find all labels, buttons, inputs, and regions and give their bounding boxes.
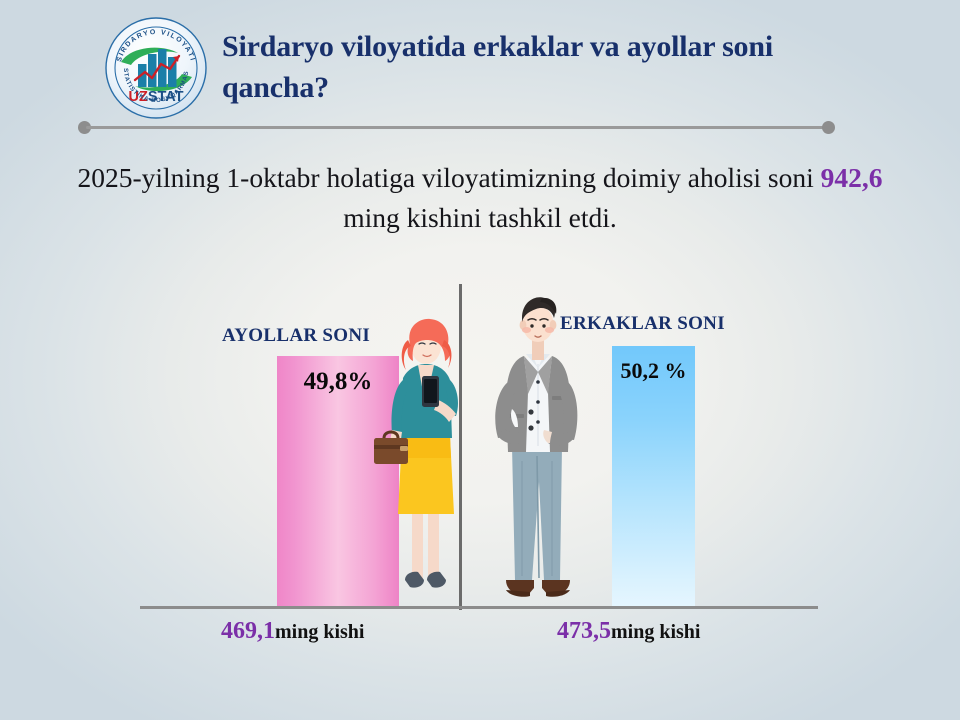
chart-baseline	[140, 606, 818, 609]
woman-illustration	[372, 318, 476, 608]
subtitle-lead: 2025-yilning 1-oktabr holatiga viloyatim…	[77, 162, 820, 193]
value-men-unit: ming kishi	[611, 621, 700, 643]
header-divider	[0, 121, 960, 135]
divider-dot-right	[822, 121, 835, 134]
value-women-number: 469,1	[221, 618, 275, 644]
subtitle-total-value: 942,6	[821, 162, 883, 193]
value-women: 469,1ming kishi	[221, 618, 364, 645]
population-bar-chart: AYOLLAR SONI 49,8%	[0, 270, 960, 690]
uzstat-logo: UZSTAT SIRDARYO VILOYATI STATISTIKA BOSH…	[104, 16, 208, 120]
value-men: 473,5ming kishi	[557, 618, 700, 645]
subtitle-tail: ming kishini tashkil etdi.	[343, 202, 616, 233]
header: UZSTAT SIRDARYO VILOYATI STATISTIKA BOSH…	[0, 0, 960, 130]
infographic-slide: UZSTAT SIRDARYO VILOYATI STATISTIKA BOSH…	[0, 0, 960, 720]
divider-line	[86, 126, 830, 129]
bar-men: 50,2 %	[612, 346, 695, 608]
page-title: Sirdaryo viloyatida erkaklar va ayollar …	[222, 26, 882, 109]
bar-men-percent: 50,2 %	[612, 358, 695, 384]
value-men-number: 473,5	[557, 618, 611, 644]
subtitle: 2025-yilning 1-oktabr holatiga viloyatim…	[70, 158, 890, 237]
value-women-unit: ming kishi	[275, 621, 364, 643]
man-illustration	[482, 296, 594, 608]
category-label-women: AYOLLAR SONI	[222, 325, 370, 347]
